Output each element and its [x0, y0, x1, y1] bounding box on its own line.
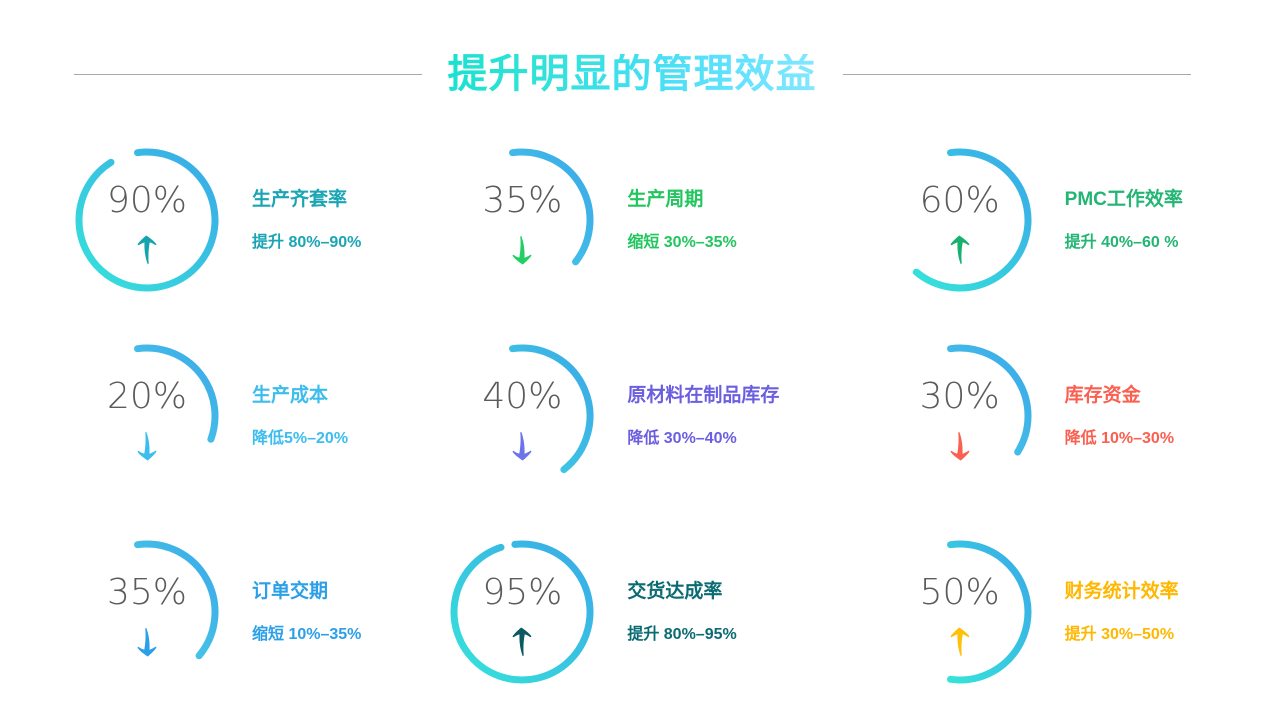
- arrow-down-icon: [945, 429, 975, 463]
- metric-card: 60%PMC工作效率提升 40%–60 %: [843, 122, 1264, 318]
- metric-delta: 提升 80%–95%: [627, 627, 736, 643]
- metric-card: 95%交货达成率提升 80%–95%: [421, 514, 842, 710]
- metric-text: 交货达成率提升 80%–95%: [627, 582, 736, 643]
- metric-text: 原材料在制品库存降低 30%–40%: [627, 386, 779, 447]
- gauge-ring: 50%: [881, 533, 1039, 691]
- title-rule-left: [74, 74, 422, 75]
- metric-text: 财务统计效率提升 30%–50%: [1065, 582, 1179, 643]
- metric-text: 库存资金降低 10%–30%: [1065, 386, 1174, 447]
- metric-delta: 提升 30%–50%: [1065, 627, 1179, 643]
- gauge-ring: 35%: [443, 141, 601, 299]
- metric-card: 35%订单交期缩短 10%–35%: [0, 514, 421, 710]
- metric-card: 90%生产齐套率提升 80%–90%: [0, 122, 421, 318]
- arrow-up-icon: [132, 233, 162, 267]
- metric-delta: 缩短 10%–35%: [252, 627, 361, 643]
- arrow-up-icon: [945, 625, 975, 659]
- metric-delta: 降低 30%–40%: [627, 431, 779, 447]
- page-title: 提升明显的管理效益: [448, 54, 817, 94]
- metric-name: 订单交期: [252, 582, 361, 601]
- gauge-ring: 35%: [68, 533, 226, 691]
- gauge-ring: 60%: [881, 141, 1039, 299]
- arrow-down-icon: [507, 233, 537, 267]
- metric-text: 生产齐套率提升 80%–90%: [252, 190, 361, 251]
- gauge-value: 35%: [68, 575, 226, 611]
- metric-text: PMC工作效率提升 40%–60 %: [1065, 190, 1183, 251]
- metric-delta: 提升 40%–60 %: [1065, 235, 1183, 251]
- arrow-down-icon: [132, 625, 162, 659]
- gauge-ring: 30%: [881, 337, 1039, 495]
- gauge-ring: 90%: [68, 141, 226, 299]
- metrics-grid: 90%生产齐套率提升 80%–90%35%生产周期缩短 30%–35%60%PM…: [0, 122, 1264, 710]
- gauge-ring: 20%: [68, 337, 226, 495]
- metric-text: 生产成本降低5%–20%: [252, 386, 348, 447]
- metric-name: 生产周期: [627, 190, 736, 209]
- gauge-ring: 95%: [443, 533, 601, 691]
- gauge-value: 50%: [881, 575, 1039, 611]
- metric-card: 50%财务统计效率提升 30%–50%: [843, 514, 1264, 710]
- metric-card: 30%库存资金降低 10%–30%: [843, 318, 1264, 514]
- metric-name: PMC工作效率: [1065, 190, 1183, 209]
- gauge-value: 30%: [881, 379, 1039, 415]
- metric-name: 原材料在制品库存: [627, 386, 779, 405]
- gauge-value: 20%: [68, 379, 226, 415]
- title-rule-right: [843, 74, 1191, 75]
- metric-text: 订单交期缩短 10%–35%: [252, 582, 361, 643]
- metric-card: 40%原材料在制品库存降低 30%–40%: [421, 318, 842, 514]
- arrow-down-icon: [132, 429, 162, 463]
- metric-name: 生产齐套率: [252, 190, 361, 209]
- metric-name: 财务统计效率: [1065, 582, 1179, 601]
- metric-name: 生产成本: [252, 386, 348, 405]
- arrow-down-icon: [507, 429, 537, 463]
- metric-text: 生产周期缩短 30%–35%: [627, 190, 736, 251]
- arrow-up-icon: [507, 625, 537, 659]
- gauge-value: 90%: [68, 183, 226, 219]
- metric-name: 库存资金: [1065, 386, 1174, 405]
- metric-delta: 缩短 30%–35%: [627, 235, 736, 251]
- metric-card: 35%生产周期缩短 30%–35%: [421, 122, 842, 318]
- gauge-value: 95%: [443, 575, 601, 611]
- page-header: 提升明显的管理效益: [0, 38, 1264, 110]
- gauge-ring: 40%: [443, 337, 601, 495]
- metric-name: 交货达成率: [627, 582, 736, 601]
- metric-delta: 降低5%–20%: [252, 431, 348, 447]
- metric-delta: 降低 10%–30%: [1065, 431, 1174, 447]
- metric-card: 20%生产成本降低5%–20%: [0, 318, 421, 514]
- metric-delta: 提升 80%–90%: [252, 235, 361, 251]
- gauge-value: 35%: [443, 183, 601, 219]
- gauge-value: 60%: [881, 183, 1039, 219]
- arrow-up-icon: [945, 233, 975, 267]
- gauge-value: 40%: [443, 379, 601, 415]
